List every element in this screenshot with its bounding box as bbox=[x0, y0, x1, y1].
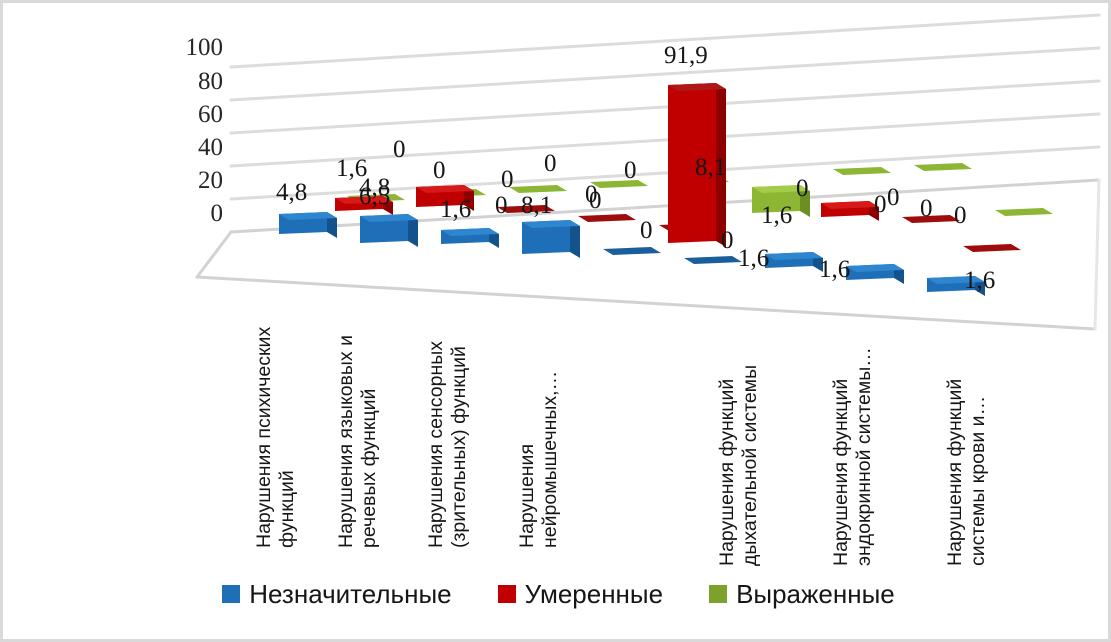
x-axis-label-2-line1: Нарушения языковых и bbox=[335, 335, 357, 548]
legend-swatch-blue-icon bbox=[222, 585, 240, 603]
x-axis-label-6-line1: Нарушения функций bbox=[830, 379, 852, 566]
x-axis-labels: Нарушения психических функций Нарушения … bbox=[3, 3, 1111, 642]
legend-item-0[interactable]: Незначительные bbox=[222, 581, 451, 607]
x-axis-label-7-line1: Нарушения функций bbox=[944, 379, 966, 566]
legend-swatch-red-icon bbox=[498, 585, 516, 603]
x-axis-label-4: Нарушения нейромышечных,… bbox=[516, 371, 562, 548]
x-axis-label-6-line2: эндокринной системы… bbox=[853, 347, 876, 566]
x-axis-label-6: Нарушения функций эндокринной системы… bbox=[830, 347, 876, 566]
x-axis-label-3-line2: (зрительных) функций bbox=[448, 341, 471, 548]
x-axis-label-5: Нарушения функций дыхательной системы bbox=[716, 365, 762, 566]
x-axis-label-4-line2: нейромышечных,… bbox=[539, 371, 562, 548]
legend-swatch-green-icon bbox=[709, 585, 727, 603]
legend-label-2: Выраженные bbox=[736, 581, 895, 607]
x-axis-label-4-line1: Нарушения bbox=[516, 444, 538, 548]
x-axis-label-2-line2: речевых функций bbox=[358, 335, 381, 548]
x-axis-label-5-line2: дыхательной системы bbox=[739, 365, 762, 566]
x-axis-label-2: Нарушения языковых и речевых функций bbox=[335, 335, 381, 548]
x-axis-label-1-line1: Нарушения психических bbox=[253, 327, 275, 548]
x-axis-label-1-line2: функций bbox=[276, 327, 299, 548]
chart-container: 100 80 60 40 20 0 bbox=[0, 0, 1111, 642]
legend-item-2[interactable]: Выраженные bbox=[709, 581, 895, 607]
x-axis-label-1: Нарушения психических функций bbox=[253, 327, 299, 548]
legend-label-0: Незначительные bbox=[249, 581, 451, 607]
x-axis-label-7-line2: системы крови и… bbox=[967, 379, 990, 566]
chart-legend: Незначительные Умеренные Выраженные bbox=[3, 581, 1111, 607]
legend-item-1[interactable]: Умеренные bbox=[498, 581, 663, 607]
x-axis-label-3: Нарушения сенсорных (зрительных) функций bbox=[425, 341, 471, 548]
x-axis-label-3-line1: Нарушения сенсорных bbox=[425, 341, 447, 548]
x-axis-label-5-line1: Нарушения функций bbox=[716, 379, 738, 566]
legend-label-1: Умеренные bbox=[525, 581, 663, 607]
x-axis-label-7: Нарушения функций системы крови и… bbox=[944, 379, 990, 566]
